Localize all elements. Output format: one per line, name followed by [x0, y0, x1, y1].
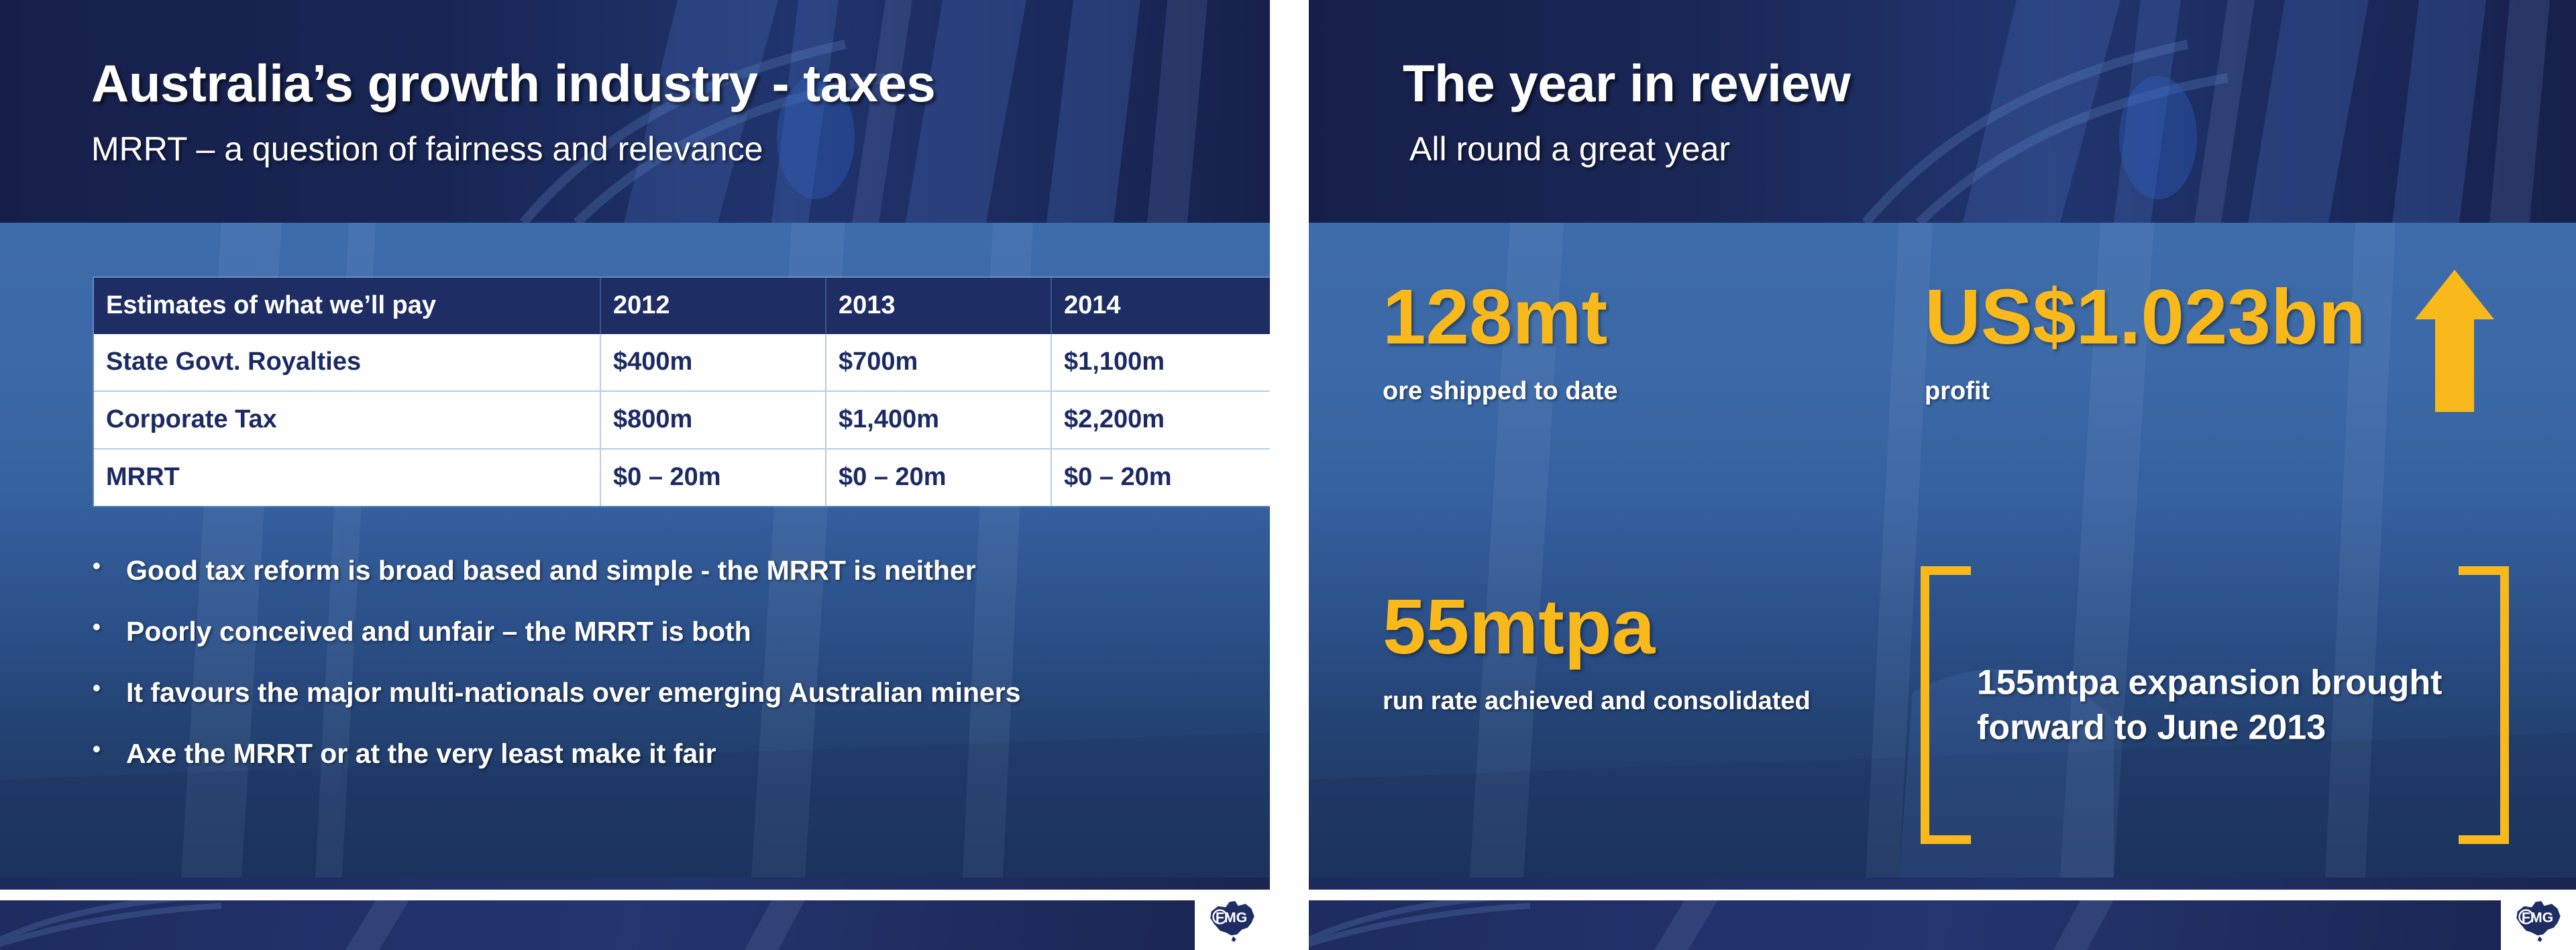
- callout-text: 155mtpa expansion brought forward to Jun…: [1977, 660, 2453, 749]
- bullet-list: Good tax reform is broad based and simpl…: [89, 557, 1189, 768]
- table-cell: $0 – 20m: [600, 449, 826, 506]
- slide-body: Estimates of what we’ll pay 2012 2013 20…: [0, 223, 1270, 878]
- table-header-cell: 2014: [1051, 278, 1270, 334]
- stat-run-rate: 55mtpa run rate achieved and consolidate…: [1383, 557, 1913, 851]
- table-cell: $700m: [826, 334, 1051, 391]
- slide-year-in-review: The year in review All round a great yea…: [1309, 0, 2576, 950]
- table-cell: $800m: [600, 391, 826, 449]
- header-text: Australia’s growth industry - taxes MRRT…: [91, 0, 1243, 223]
- slide-header: Australia’s growth industry - taxes MRRT…: [0, 0, 1270, 223]
- fmg-logo: FMG: [1195, 900, 1270, 950]
- slide-mrrt: Australia’s growth industry - taxes MRRT…: [0, 0, 1270, 950]
- footer-background-art: [1309, 900, 2576, 950]
- bracket-left-icon: [1921, 566, 1971, 844]
- stats-grid: 128mt ore shipped to date US$1.023bn pro…: [1383, 263, 2529, 851]
- stat-value: 128mt: [1383, 278, 1617, 356]
- table-cell: $1,400m: [826, 391, 1051, 449]
- table-cell: $0 – 20m: [1051, 449, 1270, 506]
- expansion-callout: 155mtpa expansion brought forward to Jun…: [1913, 557, 2529, 851]
- stat-label: profit: [1925, 376, 2366, 407]
- stat-label: run rate achieved and consolidated: [1383, 686, 1811, 717]
- page-subtitle: MRRT – a question of fairness and releva…: [91, 132, 1243, 166]
- table-cell: $0 – 20m: [826, 449, 1051, 506]
- table-cell: $400m: [600, 334, 826, 391]
- table-row: Corporate Tax $800m $1,400m $2,200m: [94, 391, 1270, 449]
- table-cell: State Govt. Royalties: [94, 334, 600, 391]
- footer-divider: [1309, 890, 2576, 900]
- table-cell: $1,100m: [1051, 334, 1270, 391]
- fmg-logo: FMG: [2501, 900, 2576, 950]
- table-header-cell: 2013: [826, 278, 1051, 334]
- table-row: State Govt. Royalties $400m $700m $1,100…: [94, 334, 1270, 391]
- bracket-right-icon: [2459, 566, 2509, 844]
- stat-ore-shipped: 128mt ore shipped to date: [1383, 263, 1913, 557]
- slide-deck: Australia’s growth industry - taxes MRRT…: [0, 0, 2576, 950]
- slide-body: 128mt ore shipped to date US$1.023bn pro…: [1309, 223, 2576, 878]
- list-item: Axe the MRRT or at the very least make i…: [89, 740, 1189, 768]
- table-cell: MRRT: [94, 449, 600, 506]
- list-item: It favours the major multi-nationals ove…: [89, 679, 1189, 706]
- table-header-cell: 2012: [600, 278, 826, 334]
- stat-value: 55mtpa: [1383, 588, 1811, 666]
- table-cell: $2,200m: [1051, 391, 1270, 449]
- page-title: The year in review: [1403, 57, 2549, 109]
- slide-separator: [1270, 0, 1309, 950]
- stat-value: US$1.023bn: [1925, 278, 2366, 356]
- table-cell: Corporate Tax: [94, 391, 600, 449]
- page-title: Australia’s growth industry - taxes: [91, 57, 1243, 109]
- header-text: The year in review All round a great yea…: [1403, 0, 2549, 223]
- table-row: MRRT $0 – 20m $0 – 20m $0 – 20m: [94, 449, 1270, 506]
- list-item: Good tax reform is broad based and simpl…: [89, 557, 1189, 584]
- footer-bar: FMG: [1309, 900, 2576, 950]
- list-item: Poorly conceived and unfair – the MRRT i…: [89, 618, 1189, 645]
- footer-bar: FMG: [0, 900, 1270, 950]
- footer-background-art: [0, 900, 1270, 950]
- page-subtitle: All round a great year: [1409, 132, 2549, 166]
- table-header-cell: Estimates of what we’ll pay: [94, 278, 600, 334]
- footer-top-band: [0, 878, 1270, 890]
- tax-estimates-table: Estimates of what we’ll pay 2012 2013 20…: [94, 278, 1270, 506]
- stat-profit: US$1.023bn profit: [1913, 263, 2529, 557]
- stat-label: ore shipped to date: [1383, 376, 1617, 407]
- up-arrow-icon: [2415, 270, 2494, 412]
- footer-top-band: [1309, 878, 2576, 890]
- table-header-row: Estimates of what we’ll pay 2012 2013 20…: [94, 278, 1270, 334]
- slide-header: The year in review All round a great yea…: [1309, 0, 2576, 223]
- footer-divider: [0, 890, 1270, 900]
